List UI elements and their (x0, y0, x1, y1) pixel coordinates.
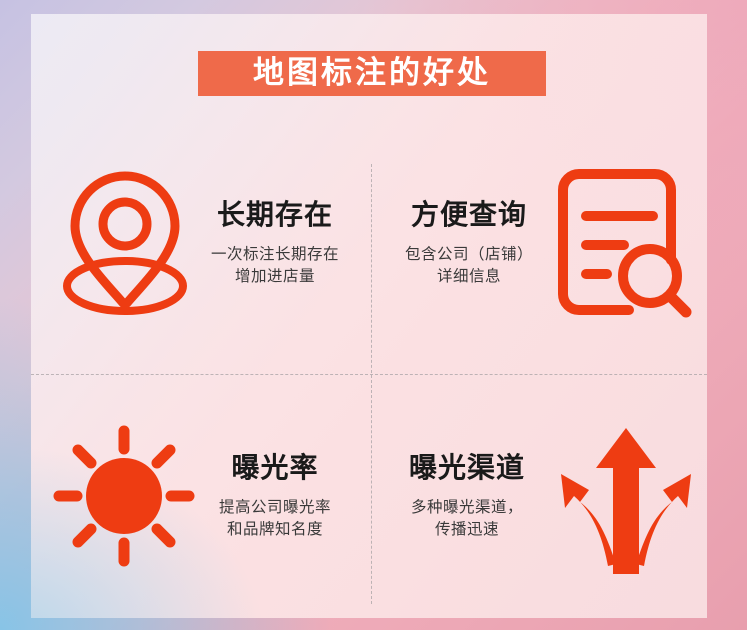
benefit-text-long-term-presence: 长期存在 一次标注长期存在 增加进店量 (191, 196, 365, 288)
benefit-card-easy-search: 方便查询 包含公司（店铺） 详细信息 (371, 110, 707, 374)
benefit-text-exposure-channels: 曝光渠道 多种曝光渠道， 传播迅速 (375, 451, 551, 541)
benefit-heading: 方便查询 (411, 200, 527, 231)
benefit-heading: 曝光渠道 (409, 453, 525, 484)
page-title: 地图标注的好处 (253, 58, 491, 89)
benefit-card-exposure-rate: 曝光率 提高公司曝光率 和品牌知名度 (31, 374, 371, 618)
benefits-grid: 长期存在 一次标注长期存在 增加进店量 (31, 110, 707, 618)
title-banner: 地图标注的好处 (198, 51, 546, 96)
benefit-text-exposure-rate: 曝光率 提高公司曝光率 和品牌知名度 (195, 451, 365, 541)
benefit-heading: 长期存在 (217, 200, 333, 231)
benefit-card-long-term-presence: 长期存在 一次标注长期存在 增加进店量 (31, 110, 371, 374)
benefit-text-easy-search: 方便查询 包含公司（店铺） 详细信息 (377, 196, 551, 288)
branching-arrows-icon (551, 416, 701, 576)
benefit-subtitle: 包含公司（店铺） 详细信息 (405, 243, 533, 288)
map-pin-icon (59, 166, 191, 318)
benefit-subtitle: 一次标注长期存在 增加进店量 (211, 243, 339, 288)
benefit-card-exposure-channels: 曝光渠道 多种曝光渠道， 传播迅速 (371, 374, 707, 618)
document-search-icon (551, 164, 701, 320)
benefit-heading: 曝光率 (231, 453, 318, 484)
benefit-subtitle: 多种曝光渠道， 传播迅速 (411, 496, 523, 541)
poster-canvas: 地图标注的好处 长期存在 一次标注长期存在 增加进店量 (0, 0, 747, 630)
sun-icon (53, 425, 195, 567)
poster-card: 地图标注的好处 长期存在 一次标注长期存在 增加进店量 (31, 14, 707, 618)
benefit-subtitle: 提高公司曝光率 和品牌知名度 (219, 496, 331, 541)
